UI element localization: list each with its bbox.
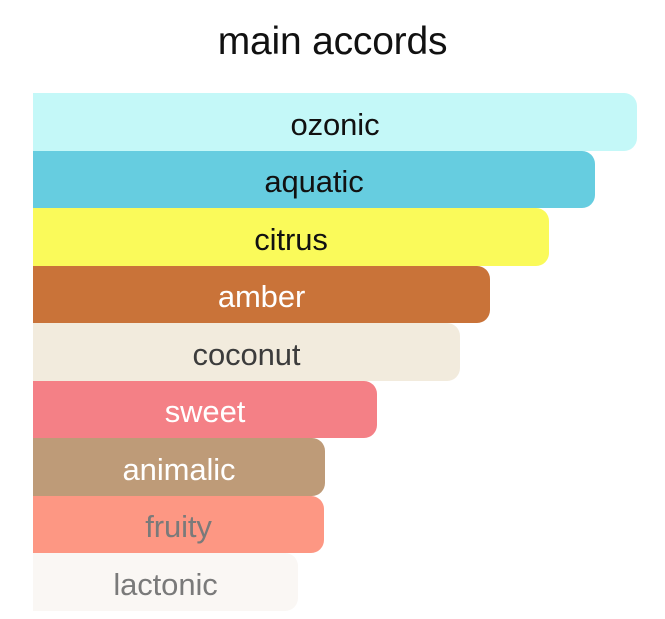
accord-row[interactable]: ozonic (0, 93, 665, 151)
accord-bar (33, 496, 324, 554)
accord-bar (33, 93, 637, 151)
accord-bar (33, 151, 595, 209)
accord-bar (33, 323, 460, 381)
accord-row[interactable]: amber (0, 266, 665, 324)
accord-row[interactable]: citrus (0, 208, 665, 266)
accords-bar-chart: ozonicaquaticcitrusambercoconutsweetanim… (0, 93, 665, 619)
accord-row[interactable]: fruity (0, 496, 665, 554)
accord-row[interactable]: animalic (0, 438, 665, 496)
accord-row[interactable]: lactonic (0, 553, 665, 611)
page-title: main accords (0, 16, 665, 68)
accord-bar (33, 553, 298, 611)
main-accords-widget: main accords ozonicaquaticcitrusambercoc… (0, 0, 665, 619)
accord-row[interactable]: coconut (0, 323, 665, 381)
accord-bar (33, 208, 549, 266)
accord-row[interactable]: aquatic (0, 151, 665, 209)
accord-bar (33, 438, 325, 496)
accord-row[interactable]: sweet (0, 381, 665, 439)
accord-bar (33, 266, 490, 324)
accord-bar (33, 381, 377, 439)
